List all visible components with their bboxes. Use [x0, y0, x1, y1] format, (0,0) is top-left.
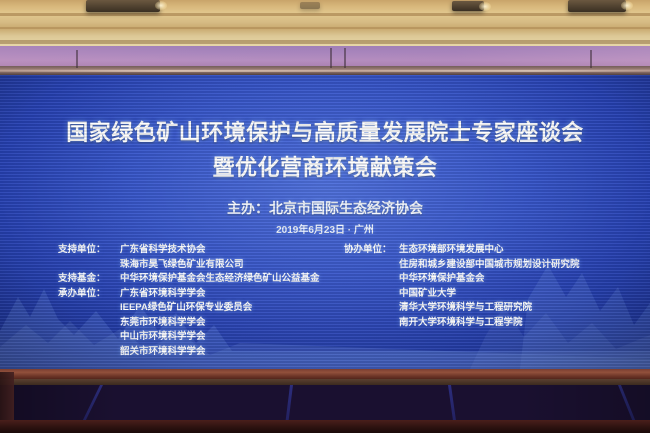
org-value: 东莞市环境科学学会: [120, 314, 206, 328]
org-row: 珠海市昊飞绿色矿业有限公司: [58, 256, 320, 271]
org-row: 支持单位： 广东省科学技术协会: [58, 241, 320, 256]
org-label: 支持单位：: [58, 241, 120, 255]
left-organization-column: 支持单位： 广东省科学技术协会 珠海市昊飞绿色矿业有限公司 支持基金： 中华环境…: [58, 241, 320, 357]
org-value: 南开大学环境科学与工程学院: [399, 314, 523, 328]
org-value: 广东省环境科学学会: [120, 285, 206, 299]
org-row: 韶关市环境科学学会: [58, 343, 320, 358]
org-value: 中华环境保护基金会生态经济绿色矿山公益基金: [120, 270, 320, 284]
ceiling-light-fixture: [568, 0, 626, 12]
ceiling-beam: [0, 27, 650, 29]
org-row: 南开大学环境科学与工程学院: [344, 314, 580, 329]
ceiling-light-fixture: [300, 2, 320, 9]
org-value: 清华大学环境科学与工程研究院: [399, 299, 532, 313]
event-host-line: 主办：北京市国际生态经济协会: [0, 198, 650, 218]
org-value: 珠海市昊飞绿色矿业有限公司: [120, 256, 244, 270]
org-row: 协办单位： 生态环境部环境发展中心: [344, 241, 580, 256]
event-title-line-1: 国家绿色矿山环境保护与高质量发展院士专家座谈会: [0, 115, 650, 147]
org-row: 中国矿业大学: [344, 285, 580, 300]
org-value: IEEPA绿色矿山环保专业委员会: [120, 299, 252, 313]
org-label: 协办单位：: [344, 241, 399, 255]
ceiling-beam: [0, 40, 650, 44]
org-row: 承办单位： 广东省环境科学学会: [58, 285, 320, 300]
right-organization-column: 协办单位： 生态环境部环境发展中心 住房和城乡建设部中国城市规划设计研究院 中华…: [344, 241, 580, 328]
org-row: 住房和城乡建设部中国城市规划设计研究院: [344, 256, 580, 271]
org-row: 清华大学环境科学与工程研究院: [344, 299, 580, 314]
org-value: 住房和城乡建设部中国城市规划设计研究院: [399, 256, 580, 270]
stage-left-pillar: [0, 372, 14, 424]
ceiling-light-fixture: [452, 1, 484, 11]
org-row: 中华环境保护基金会: [344, 270, 580, 285]
rigging-pole: [76, 50, 78, 68]
event-date-location: 2019年6月23日 · 广州: [0, 221, 650, 236]
org-label: 承办单位：: [58, 285, 120, 299]
org-value: 广东省科学技术协会: [120, 241, 206, 255]
rigging-pole: [590, 50, 592, 68]
hall-ceiling: [0, 0, 650, 46]
org-row: 东莞市环境科学学会: [58, 314, 320, 329]
org-row: 中山市环境科学学会: [58, 328, 320, 343]
org-row: IEEPA绿色矿山环保专业委员会: [58, 299, 320, 314]
screen-text-content: 国家绿色矿山环境保护与高质量发展院士专家座谈会 暨优化营商环境献策会 主办：北京…: [0, 75, 650, 369]
ceiling-beam: [0, 13, 650, 16]
floor-shading: [0, 385, 650, 425]
rigging-pole: [330, 48, 332, 68]
event-title-line-2: 暨优化营商环境献策会: [0, 150, 650, 182]
stage-base-shadow: [0, 420, 650, 433]
led-display-screen: 国家绿色矿山环境保护与高质量发展院士专家座谈会 暨优化营商环境献策会 主办：北京…: [0, 75, 650, 369]
org-label: 支持基金：: [58, 270, 120, 284]
ceiling-light-fixture: [86, 0, 160, 12]
org-value: 中华环境保护基金会: [399, 270, 485, 284]
org-value: 生态环境部环境发展中心: [399, 241, 504, 255]
org-row: 支持基金： 中华环境保护基金会生态经济绿色矿山公益基金: [58, 270, 320, 285]
org-value: 中山市环境科学学会: [120, 328, 206, 342]
org-value: 中国矿业大学: [399, 285, 456, 299]
truss-highlight: [0, 70, 650, 72]
rigging-pole: [344, 48, 346, 68]
conference-hall-photo: 国家绿色矿山环境保护与高质量发展院士专家座谈会 暨优化营商环境献策会 主办：北京…: [0, 0, 650, 433]
org-value: 韶关市环境科学学会: [120, 343, 206, 357]
